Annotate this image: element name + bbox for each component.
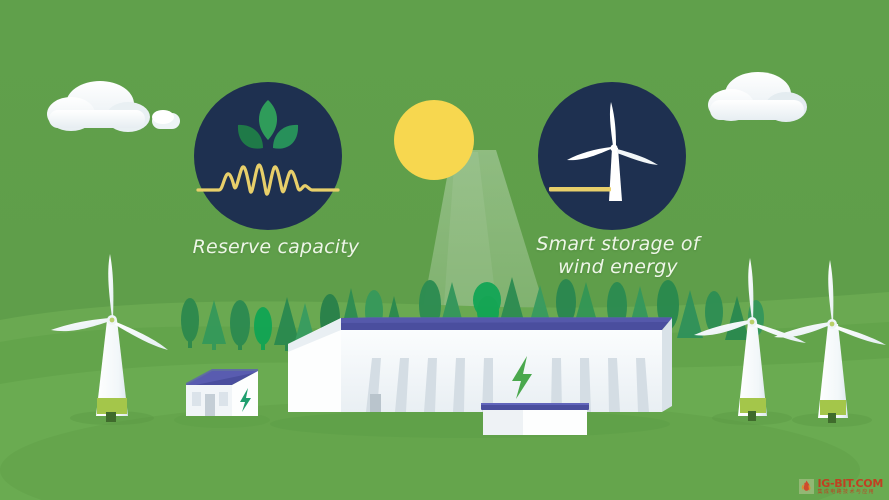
flame-logo-icon bbox=[799, 479, 814, 494]
watermark: IG-BIT.COM 集成电路技术与应用 bbox=[799, 478, 883, 495]
sun-icon bbox=[394, 100, 474, 180]
storage-bar-icon bbox=[549, 187, 611, 192]
badge-smart-storage-wind bbox=[538, 82, 686, 230]
watermark-domain: IG-BIT.COM bbox=[817, 478, 883, 489]
watermark-text: IG-BIT.COM 集成电路技术与应用 bbox=[817, 478, 883, 495]
energy-landscape-illustration bbox=[0, 0, 889, 500]
illustration-canvas: Reserve capacity Smart storage of wind e… bbox=[0, 0, 889, 500]
watermark-subtitle: 集成电路技术与应用 bbox=[817, 490, 883, 495]
badge-reserve-capacity bbox=[194, 82, 342, 230]
battery-storage-warehouse bbox=[270, 317, 672, 438]
transformer-shed bbox=[481, 403, 589, 435]
